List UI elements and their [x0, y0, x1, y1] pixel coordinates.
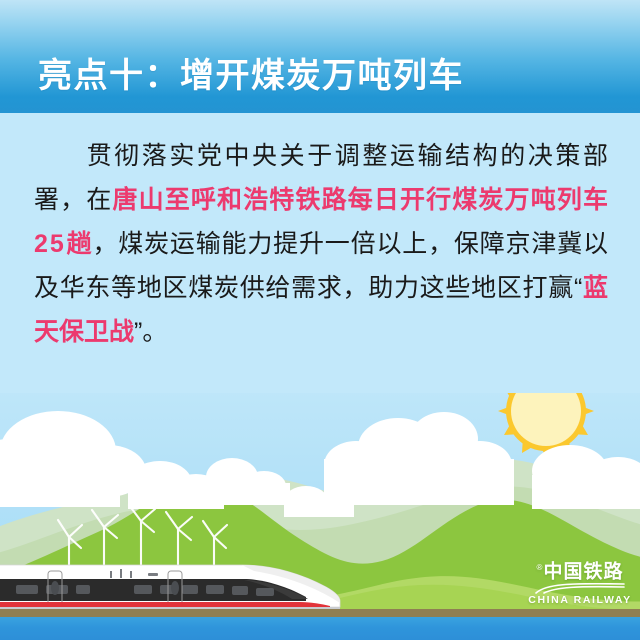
logo-english-label: CHINA RAILWAY: [528, 594, 632, 607]
header-banner: 亮点十：增开煤炭万吨列车: [0, 0, 640, 113]
high-speed-train-icon: [0, 555, 352, 617]
paragraph-highlight-route: 唐山至呼和浩特铁路每日开行煤炭万吨列车: [112, 186, 608, 214]
page-title: 亮点十：增开煤炭万吨列车: [38, 48, 464, 97]
body-text-area: 贯彻落实党中央关于调整运输结构的决策部署，在唐山至呼和浩特铁路每日开行煤炭万吨列…: [0, 113, 640, 393]
paragraph-highlight-unit: 趟: [66, 230, 93, 258]
paragraph-segment-3: 。: [142, 318, 167, 346]
poster-root: 亮点十：增开煤炭万吨列车 贯彻落实党中央关于调整运输结构的决策部署，在唐山至呼和…: [0, 0, 640, 640]
water-band: [0, 617, 640, 640]
body-paragraph: 贯彻落实党中央关于调整运输结构的决策部署，在唐山至呼和浩特铁路每日开行煤炭万吨列…: [34, 134, 608, 354]
logo-chinese-label: 中国铁路: [543, 561, 623, 582]
cloud-icon-right: [532, 445, 640, 509]
illustration-scene: ®中国铁路 CHINA RAILWAY: [0, 355, 640, 640]
paragraph-highlight-count: 25: [34, 230, 66, 258]
track-strip: [0, 609, 640, 617]
paragraph-segment-2: ，煤炭运输能力提升一倍以上，保障京津冀以及华东等地区煤炭供给需求，助力这些地区打…: [34, 230, 608, 302]
cloud-icon-left: [0, 411, 146, 507]
logo-swoosh-icon: [534, 583, 626, 594]
cloud-icon-center: [206, 458, 290, 505]
china-railway-logo: ®中国铁路 CHINA RAILWAY: [528, 557, 632, 609]
cloud-icon-right-center: [324, 412, 514, 505]
logo-chinese-text: ®中国铁路: [528, 557, 632, 582]
